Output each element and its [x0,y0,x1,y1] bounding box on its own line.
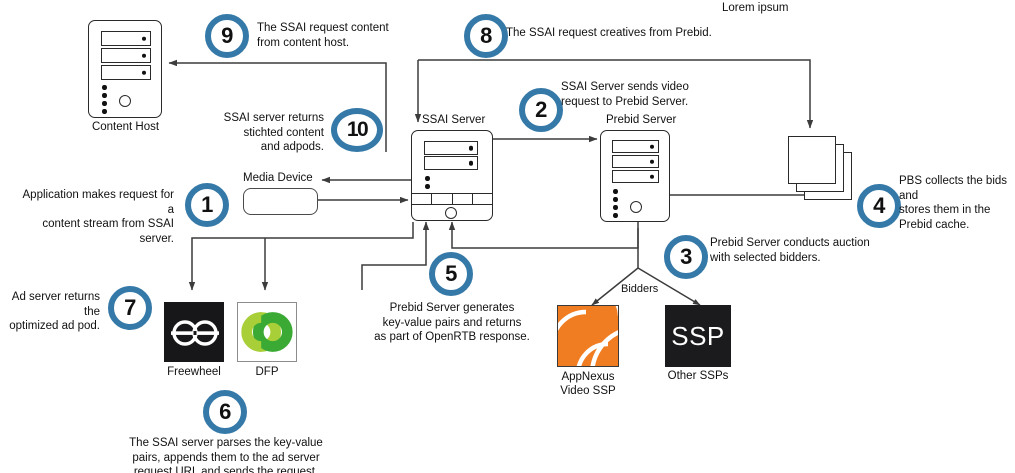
step-4-caption: PBS collects the bids and stores them in… [899,174,1015,232]
step-9-number: 9 [211,20,243,52]
content-host-label: Content Host [78,121,173,133]
step-2-number: 2 [525,94,557,126]
appnexus-logo [557,305,619,367]
ssai-server-label: SSAI Server [422,114,485,126]
dfp-label: DFP [232,366,302,378]
other-ssps-label: Other SSPs [653,370,743,382]
freewheel-logo [164,302,224,362]
media-device-label: Media Device [243,172,313,184]
step-badge-7: 7 [108,286,152,330]
step-2-caption: SSAI Server sends video request to Prebi… [561,80,731,109]
ssp-logo-text: SSP [671,321,725,351]
step-4-number: 4 [863,190,895,222]
appnexus-label: AppNexus Video SSP [543,370,633,398]
other-ssps-logo: SSP [665,305,731,367]
appnexus-glyph [558,306,619,367]
step-5-caption: Prebid Server generates key-value pairs … [357,301,547,345]
dfp-logo [237,302,297,362]
step-6-caption: The SSAI server parses the key-value pai… [128,436,324,473]
media-device-box [243,188,318,215]
bidders-label: Bidders [621,283,658,295]
ssai-server-bays [412,193,492,205]
diagram-canvas: Lorem ipsum Content Host 9 The SSAI requ… [0,0,1015,473]
step-8-number: 8 [470,20,502,52]
step-badge-9: 9 [205,14,249,58]
prebid-server-label: Prebid Server [606,114,676,126]
step-6-number: 6 [209,396,241,428]
step-10-number: 10 [337,114,377,146]
step-5-number: 5 [435,258,467,290]
step-badge-6: 6 [203,390,247,434]
step-1-number: 1 [191,189,223,221]
step-7-caption: Ad server returns the optimized ad pod. [0,290,100,334]
step-badge-5: 5 [429,252,473,296]
ssai-server-tower [411,130,493,221]
step-8-caption: The SSAI request creatives from Prebid. [506,26,766,41]
content-host-tower [88,20,162,118]
prebid-cache-stack [788,136,860,202]
lorem-ipsum-label: Lorem ipsum [722,2,788,14]
step-badge-2: 2 [519,88,563,132]
step-badge-8: 8 [464,14,508,58]
freewheel-label: Freewheel [159,366,229,378]
step-7-number: 7 [114,292,146,324]
step-badge-4: 4 [857,184,901,228]
step-1-caption: Application makes request for a content … [14,188,174,246]
dfp-glyph [238,303,296,361]
step-badge-1: 1 [185,183,229,227]
step-badge-3: 3 [664,235,708,279]
freewheel-glyph [165,303,224,362]
step-3-number: 3 [670,241,702,273]
step-10-caption: SSAI server returns stichted content and… [185,111,324,155]
prebid-server-tower [600,130,670,222]
step-3-caption: Prebid Server conducts auction with sele… [710,236,895,265]
step-badge-10: 10 [331,108,383,152]
step-9-caption: The SSAI request content from content ho… [257,21,437,50]
